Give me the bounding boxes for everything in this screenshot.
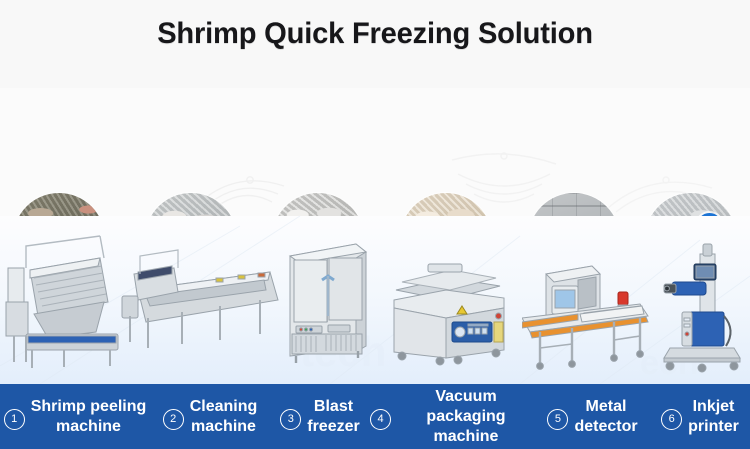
label-text-4: Vacuum packaging machine [397,387,535,447]
label-text-3: Blast freezer [307,397,359,437]
machine-label-list: 1 Shrimp peeling machine 2 Cleaning mach… [0,384,750,449]
label-text-2: Cleaning machine [190,397,258,437]
label-item-vacuum-packaging-machine[interactable]: 4 Vacuum packaging machine [370,387,535,447]
label-item-metal-detector[interactable]: 5 Metal detector [535,397,650,437]
label-number-3: 3 [280,409,301,430]
label-number-1: 1 [4,409,25,430]
machine-label-bar: 1 Shrimp peeling machine 2 Cleaning mach… [0,384,750,449]
machine-metal-detector [522,256,652,374]
label-number-6: 6 [661,409,682,430]
label-item-blast-freezer[interactable]: 3 Blast freezer [270,397,370,437]
label-text-5: Metal detector [574,397,637,437]
machine-shrimp-peeling-machine [4,230,130,370]
label-number-4: 4 [370,409,391,430]
process-stage-band [0,88,750,216]
label-text-1: Shrimp peeling machine [31,397,147,437]
label-item-cleaning-machine[interactable]: 2 Cleaning machine [150,397,270,437]
label-item-inkjet-printer[interactable]: 6 Inkjet printer [650,397,750,437]
machine-vacuum-packaging-machine [388,260,508,370]
machine-row: tech ech [0,216,750,384]
label-text-6: Inkjet printer [688,397,739,437]
machine-blast-freezer [282,236,372,366]
label-number-5: 5 [547,409,568,430]
machine-inkjet-printer [660,238,746,374]
machine-cleaning-machine [120,244,280,356]
label-number-2: 2 [163,409,184,430]
label-item-shrimp-peeling-machine[interactable]: 1 Shrimp peeling machine [0,397,150,437]
infographic-page: Shrimp Quick Freezing Solution [0,0,750,449]
page-title: Shrimp Quick Freezing Solution [11,17,739,51]
